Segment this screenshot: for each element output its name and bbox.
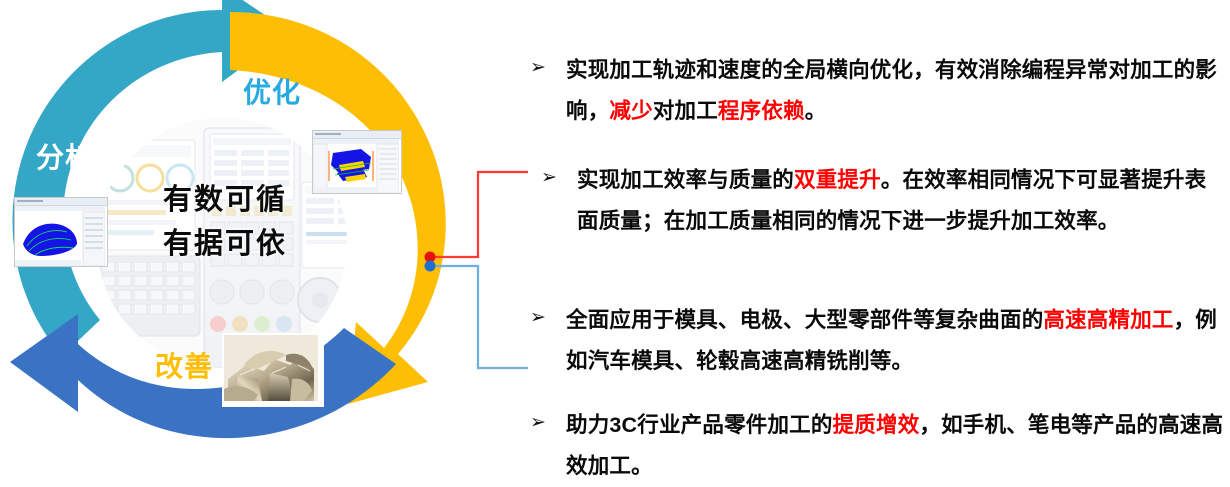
bullet-list: ➢ 实现加工轨迹和速度的全局横向优化，有效消除编程异常对加工的影响，减少对加工程… <box>527 0 1230 486</box>
bullet-3-run-1: 提质增效 <box>833 413 920 437</box>
bullet-0-run-3: 对加工 <box>653 99 718 123</box>
thumbnail-canvas <box>15 206 107 266</box>
arrow-label-improve: 改善 <box>155 345 213 385</box>
parts-photo-art <box>224 335 318 401</box>
bullet-2-run-1: 高速高精加工 <box>1043 308 1173 332</box>
bullet-1-run-0: 实现加工效率与质量的 <box>577 168 794 192</box>
thumbnail-analysis-screenshot <box>14 197 108 267</box>
list-item[interactable]: ➢ 实现加工效率与质量的双重提升。在效率相同情况下可显著提升表面质量；在加工质量… <box>527 160 1227 242</box>
red-connector-line <box>432 172 528 257</box>
list-item[interactable]: ➢ 全面应用于模具、电极、大型零部件等复杂曲面的高速高精加工，例如汽车模具、轮毂… <box>527 300 1227 382</box>
bullet-arrow-icon: ➢ <box>527 300 566 336</box>
bullet-text-3: 助力3C行业产品零件加工的提质增效，如手机、笔电等产品的高速高效加工。 <box>566 405 1227 487</box>
bullet-3-run-0: 助力3C行业产品零件加工的 <box>566 413 833 437</box>
thumbnail-canvas <box>313 139 401 193</box>
list-item[interactable]: ➢ 实现加工轨迹和速度的全局横向优化，有效消除编程异常对加工的影响，减少对加工程… <box>527 50 1227 132</box>
bullet-arrow-icon: ➢ <box>527 50 566 86</box>
thumbnail-machined-parts-photo <box>222 333 324 407</box>
bullet-0-run-4: 程序依赖 <box>718 99 805 123</box>
bullet-0-run-2: 减少 <box>609 99 652 123</box>
bullet-2-run-0: 全面应用于模具、电极、大型零部件等复杂曲面的 <box>566 308 1043 332</box>
arrow-label-optimize: 优化 <box>243 71 301 111</box>
thumbnail-optimization-screenshot <box>312 130 402 194</box>
bullet-arrow-icon: ➢ <box>527 160 577 196</box>
bullet-text-0: 实现加工轨迹和速度的全局横向优化，有效消除编程异常对加工的影响，减少对加工程序依… <box>566 50 1227 132</box>
bullet-1-run-1: 双重提升 <box>794 168 881 192</box>
bullet-text-1: 实现加工效率与质量的双重提升。在效率相同情况下可显著提升表面质量；在加工质量相同… <box>577 160 1227 242</box>
blue-connector-line <box>432 266 528 368</box>
blue-connector-dot <box>425 261 436 272</box>
slide-canvas: 分析 优化 改善 有数可循 有据可依 ➢ 实现加工轨迹和速度的全局横向优化，有效… <box>0 0 1230 486</box>
bullet-arrow-icon: ➢ <box>527 405 566 441</box>
arrow-label-analyze: 分析 <box>36 136 94 176</box>
bullet-0-run-0: 实现加工轨迹和速度的全局横向优化，有效消除编程异常对加 <box>566 58 1152 82</box>
bullet-0-run-5: 。 <box>805 99 827 123</box>
thumbnail-titlebar <box>313 131 401 139</box>
thumbnail-titlebar <box>15 198 107 206</box>
list-item[interactable]: ➢ 助力3C行业产品零件加工的提质增效，如手机、笔电等产品的高速高效加工。 <box>527 405 1227 487</box>
bullet-text-2: 全面应用于模具、电极、大型零部件等复杂曲面的高速高精加工，例如汽车模具、轮毂高速… <box>566 300 1227 382</box>
